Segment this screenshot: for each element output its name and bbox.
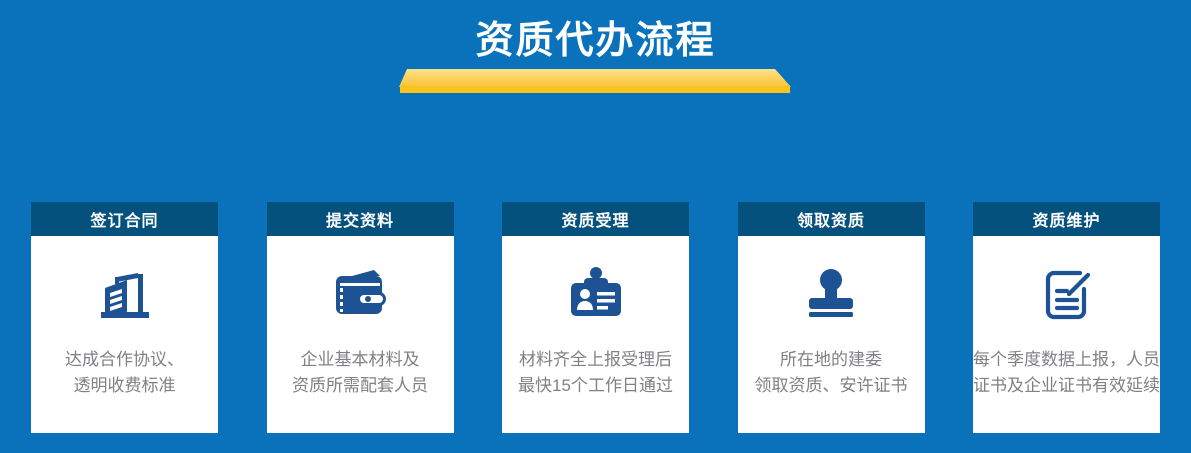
id-badge-icon <box>502 254 689 334</box>
card-description-2: 企业基本材料及 资质所需配套人员 <box>245 347 476 399</box>
card-header-5: 资质维护 <box>973 202 1160 236</box>
banner: 资质代办流程 <box>0 0 1191 120</box>
card-description-4: 所在地的建委 领取资质、安许证书 <box>716 347 947 399</box>
process-step-card-2[interactable]: 提交资料 <box>267 202 454 433</box>
card-body-3: 材料齐全上报受理后 最快15个工作日通过 <box>502 236 689 433</box>
process-steps-row: 签订合同 <box>31 202 1160 433</box>
rubber-stamp-icon <box>738 254 925 334</box>
process-step-card-5[interactable]: 资质维护 每个季度数据上报，人员 证书及企业证书有效延续 <box>973 202 1160 433</box>
process-step-card-3[interactable]: 资质受理 <box>502 202 689 433</box>
process-step-card-4[interactable]: 领取资质 所在地的建委 领取资质、安许证书 <box>738 202 925 433</box>
card-body-5: 每个季度数据上报，人员 证书及企业证书有效延续 <box>973 236 1160 433</box>
card-header-3: 资质受理 <box>502 202 689 236</box>
card-header-4: 领取资质 <box>738 202 925 236</box>
page-title: 资质代办流程 <box>0 18 1191 64</box>
factory-building-icon <box>31 254 218 334</box>
platform-base-strip <box>400 86 790 93</box>
process-step-card-1[interactable]: 签订合同 <box>31 202 218 433</box>
card-description-1: 达成合作协议、 透明收费标准 <box>9 347 240 399</box>
card-body-1: 达成合作协议、 透明收费标准 <box>31 236 218 433</box>
card-header-1: 签订合同 <box>31 202 218 236</box>
wallet-icon <box>267 254 454 334</box>
card-body-4: 所在地的建委 领取资质、安许证书 <box>738 236 925 433</box>
title-platform-graphic <box>399 69 791 95</box>
document-edit-icon <box>973 254 1160 334</box>
platform-top-face <box>399 69 791 87</box>
card-body-2: 企业基本材料及 资质所需配套人员 <box>267 236 454 433</box>
card-description-5: 每个季度数据上报，人员 证书及企业证书有效延续 <box>951 347 1182 399</box>
card-description-3: 材料齐全上报受理后 最快15个工作日通过 <box>480 347 711 399</box>
card-header-2: 提交资料 <box>267 202 454 236</box>
